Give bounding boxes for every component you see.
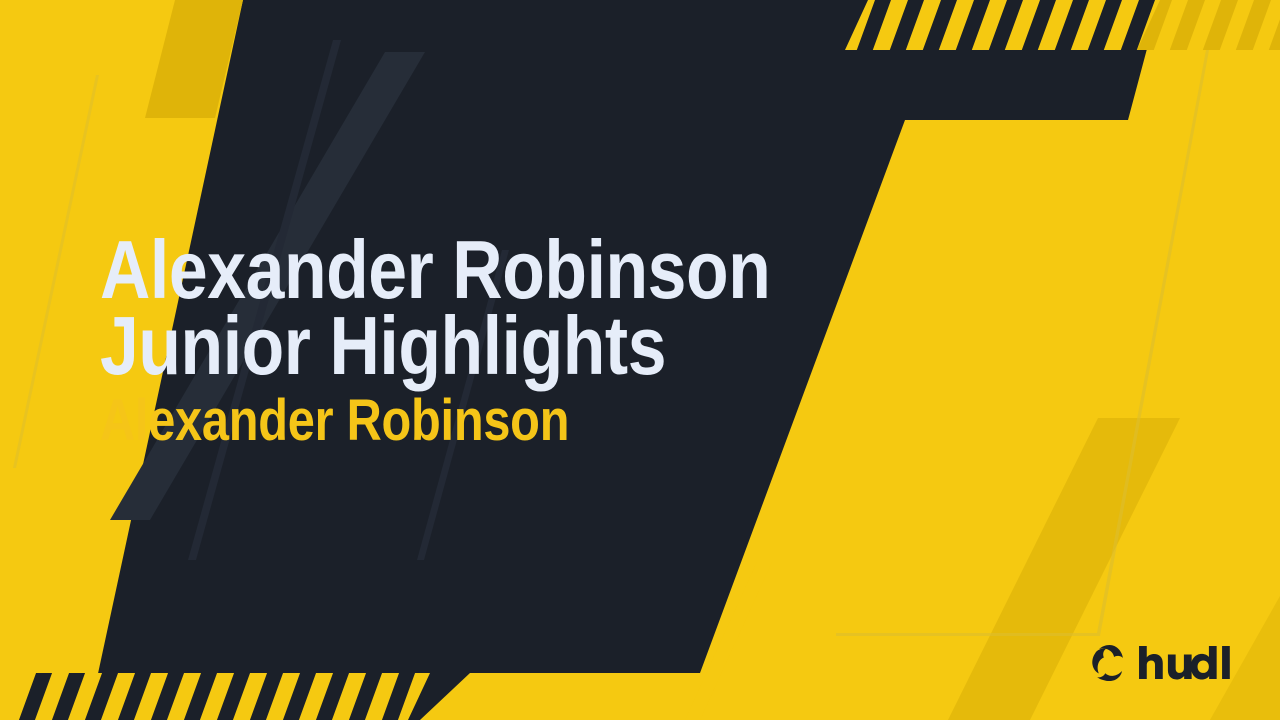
hudl-wordmark [1138,640,1257,686]
title-line-2: Junior Highlights [100,308,738,384]
hudl-logo-icon [1089,636,1131,690]
hatch-top-right [845,0,1280,50]
title-text-block: Alexander Robinson Junior Highlights Ale… [100,232,860,452]
subtitle-athlete-name: Alexander Robinson [100,390,738,452]
hudl-logo [1089,632,1257,694]
title-card-canvas: Alexander Robinson Junior Highlights Ale… [0,0,1280,720]
title-line-1: Alexander Robinson [100,232,738,308]
hatch-bottom-left [8,673,430,720]
